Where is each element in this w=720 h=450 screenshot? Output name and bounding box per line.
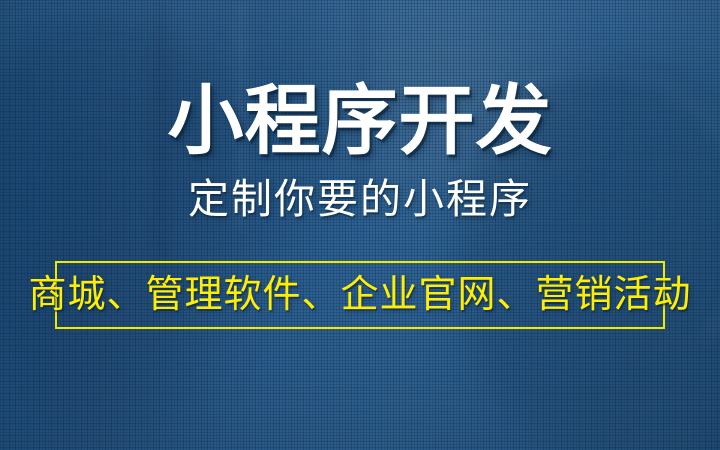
- banner-content: 小程序开发 定制你要的小程序: [0, 0, 720, 450]
- promo-banner: 小程序开发 定制你要的小程序 商城、管理软件、企业官网、营销活动: [0, 0, 720, 450]
- tagline-box: 商城、管理软件、企业官网、营销活动: [55, 261, 665, 329]
- tagline-text: 商城、管理软件、企业官网、营销活动: [29, 276, 692, 314]
- banner-subheadline: 定制你要的小程序: [188, 179, 532, 220]
- banner-headline: 小程序开发: [168, 84, 553, 160]
